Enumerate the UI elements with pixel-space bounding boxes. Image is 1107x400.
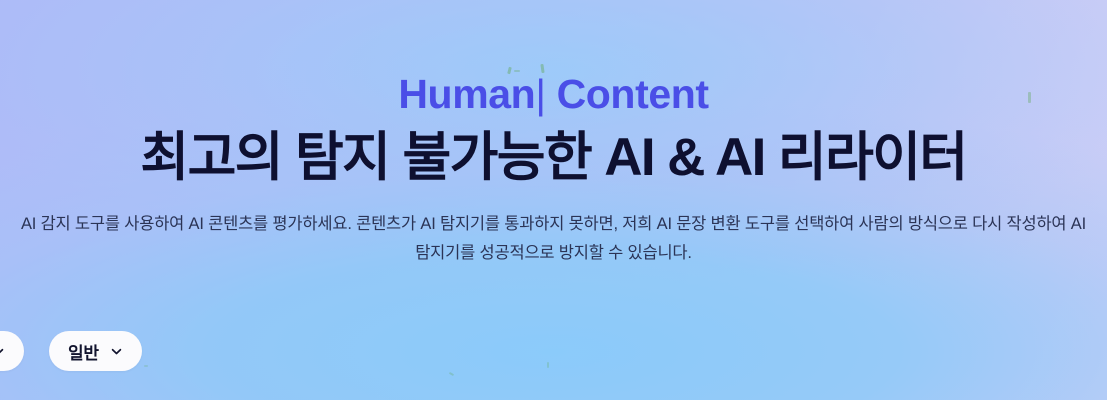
page-title: 최고의 탐지 불가능한 AI & AI 리라이터 <box>0 128 1107 188</box>
hero-eyebrow-lead: Human <box>398 71 535 117</box>
hero-control-bar: 일반 <box>0 331 142 371</box>
hero-content: Human| Content 최고의 탐지 불가능한 AI & AI 리라이터 … <box>0 0 1107 267</box>
hero-section: Human| Content 최고의 탐지 불가능한 AI & AI 리라이터 … <box>0 0 1107 400</box>
hero-eyebrow-separator: | <box>535 71 545 117</box>
mode-select-label: 일반 <box>68 339 99 364</box>
hero-description: AI 감지 도구를 사용하여 AI 콘텐츠를 평가하세요. 콘텐츠가 AI 탐지… <box>19 210 1089 267</box>
sparkle-decoration-icon <box>449 372 454 376</box>
chevron-down-icon <box>0 345 5 358</box>
sparkle-decoration-icon <box>547 362 549 368</box>
chevron-down-icon <box>110 345 123 358</box>
hero-eyebrow-trail: Content <box>557 71 709 117</box>
language-select-dropdown[interactable] <box>0 331 24 371</box>
sparkle-decoration-icon <box>144 365 148 367</box>
hero-eyebrow: Human| Content <box>0 72 1107 116</box>
mode-select-dropdown[interactable]: 일반 <box>49 331 142 371</box>
